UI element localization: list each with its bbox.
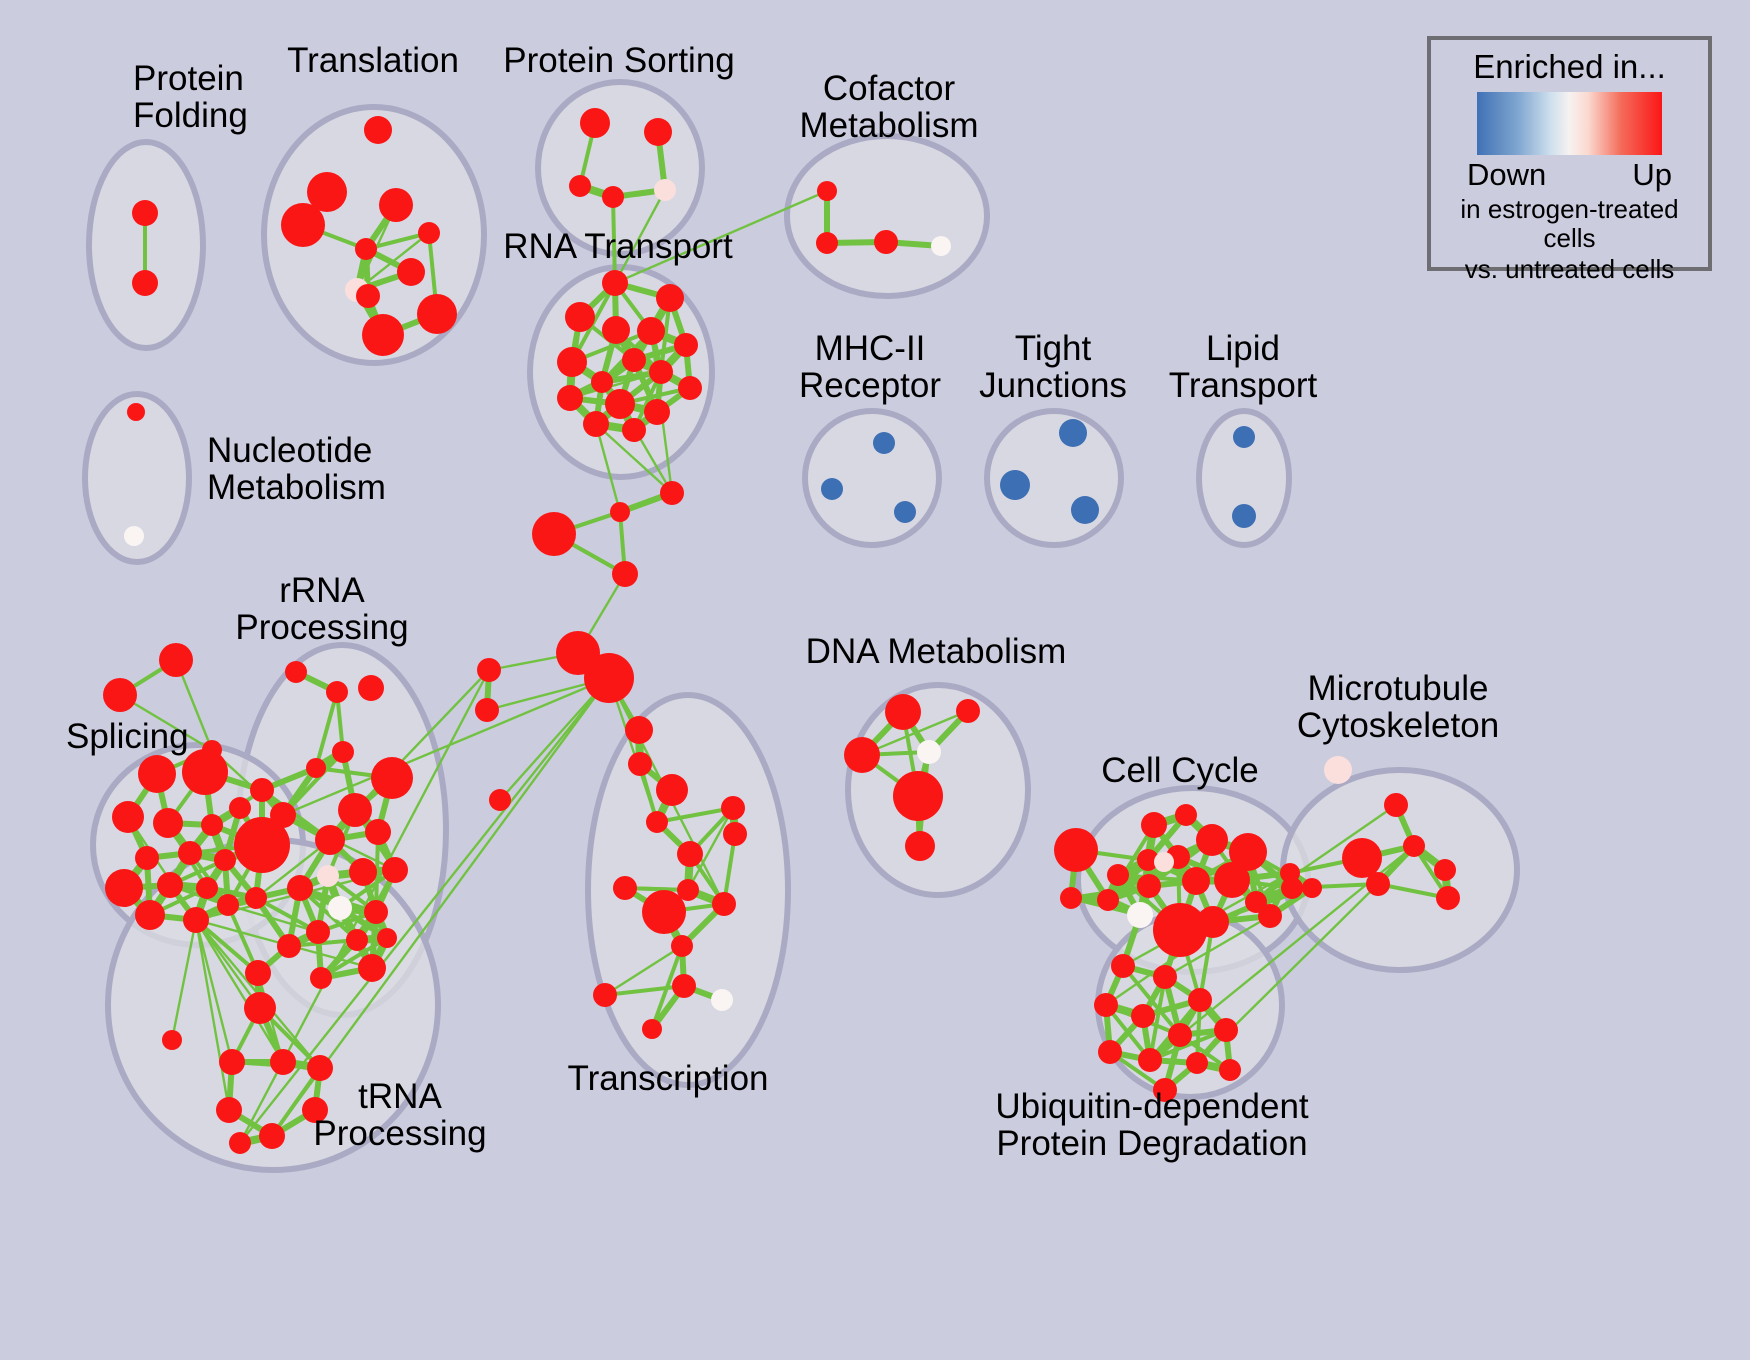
network-node[interactable] [1214, 862, 1250, 898]
network-node[interactable] [557, 385, 583, 411]
cluster-label-translation: Translation [287, 42, 459, 79]
network-node[interactable] [112, 801, 144, 833]
network-node[interactable] [1182, 867, 1210, 895]
network-node[interactable] [287, 875, 313, 901]
network-node[interactable] [328, 896, 352, 920]
network-node[interactable] [622, 348, 646, 372]
network-node[interactable] [132, 200, 158, 226]
network-node[interactable] [216, 1097, 242, 1123]
network-node[interactable] [138, 755, 176, 793]
network-node[interactable] [306, 758, 326, 778]
network-node[interactable] [625, 716, 653, 744]
network-node[interactable] [656, 774, 688, 806]
network-node[interactable] [1403, 835, 1425, 857]
network-node[interactable] [1384, 793, 1408, 817]
network-node[interactable] [602, 186, 624, 208]
network-node[interactable] [1168, 1023, 1192, 1047]
network-node[interactable] [1342, 838, 1382, 878]
network-node[interactable] [346, 929, 368, 951]
network-node[interactable] [671, 935, 693, 957]
network-node[interactable] [1060, 887, 1082, 909]
legend-caption-line1: in estrogen-treated cells [1431, 195, 1708, 253]
network-node[interactable] [306, 920, 330, 944]
network-node[interactable] [365, 819, 391, 845]
network-node[interactable] [364, 900, 388, 924]
network-node[interactable] [1131, 1004, 1155, 1028]
network-node[interactable] [672, 974, 696, 998]
network-node[interactable] [417, 294, 457, 334]
network-node[interactable] [656, 284, 684, 312]
network-node[interactable] [532, 512, 576, 556]
network-node[interactable] [250, 778, 274, 802]
network-node[interactable] [1137, 874, 1161, 898]
network-node[interactable] [610, 502, 630, 522]
network-node[interactable] [159, 643, 193, 677]
network-node[interactable] [355, 238, 377, 260]
network-node[interactable] [245, 960, 271, 986]
network-node[interactable] [135, 846, 159, 870]
network-node[interactable] [201, 814, 223, 836]
network-node[interactable] [1366, 872, 1390, 896]
network-node[interactable] [103, 678, 137, 712]
network-node[interactable] [477, 658, 501, 682]
network-node[interactable] [885, 694, 921, 730]
network-node[interactable] [1153, 965, 1177, 989]
network-node[interactable] [1214, 1018, 1238, 1042]
network-node[interactable] [905, 831, 935, 861]
network-node[interactable] [1154, 852, 1174, 872]
network-node[interactable] [1188, 988, 1212, 1012]
network-node[interactable] [219, 1049, 245, 1075]
cluster-label-protein-folding: Protein Folding [133, 60, 248, 134]
network-node[interactable] [315, 825, 345, 855]
cluster-label-rrna-processing: rRNA Processing [235, 572, 408, 646]
network-node[interactable] [371, 757, 413, 799]
network-node[interactable] [613, 876, 637, 900]
network-node[interactable] [593, 983, 617, 1007]
legend-title: Enriched in... [1431, 48, 1708, 86]
network-node[interactable] [893, 771, 943, 821]
cluster-label-tight-junctions: Tight Junctions [979, 330, 1127, 404]
network-node[interactable] [565, 302, 595, 332]
network-node[interactable] [557, 347, 587, 377]
network-node[interactable] [244, 992, 276, 1024]
network-node[interactable] [317, 865, 339, 887]
network-node[interactable] [1107, 864, 1129, 886]
network-node[interactable] [821, 478, 843, 500]
network-node[interactable] [157, 872, 183, 898]
network-node[interactable] [349, 858, 377, 886]
network-node[interactable] [475, 698, 499, 722]
network-node[interactable] [489, 789, 511, 811]
cluster-label-trna-processing: tRNA Processing [313, 1078, 486, 1152]
network-node[interactable] [711, 989, 733, 1011]
network-node[interactable] [569, 175, 591, 197]
network-node[interactable] [591, 371, 613, 393]
network-node[interactable] [332, 741, 354, 763]
network-node[interactable] [612, 561, 638, 587]
cluster-label-mhc-ii: MHC-II Receptor [799, 330, 941, 404]
network-node[interactable] [721, 796, 745, 820]
network-node[interactable] [217, 894, 239, 916]
network-node[interactable] [644, 118, 672, 146]
network-node[interactable] [649, 360, 673, 384]
cluster-label-microtubule: Microtubule Cytoskeleton [1297, 670, 1499, 744]
cluster-label-cofactor-metab: Cofactor Metabolism [800, 70, 979, 144]
cluster-label-rna-transport: RNA Transport [503, 228, 733, 265]
network-node[interactable] [1233, 426, 1255, 448]
network-node[interactable] [894, 501, 916, 523]
network-node[interactable] [132, 270, 158, 296]
network-node[interactable] [637, 317, 665, 345]
cluster-label-protein-sorting: Protein Sorting [503, 42, 735, 79]
network-node[interactable] [642, 1019, 662, 1039]
network-node[interactable] [358, 675, 384, 701]
network-node[interactable] [377, 928, 397, 948]
network-node[interactable] [397, 258, 425, 286]
cluster-label-lipid-transport: Lipid Transport [1169, 330, 1317, 404]
network-node[interactable] [602, 316, 630, 344]
network-node[interactable] [1153, 903, 1207, 957]
cluster-hull-cofactor-metab [787, 136, 987, 296]
network-node[interactable] [584, 653, 634, 703]
network-node[interactable] [723, 822, 747, 846]
network-node[interactable] [182, 749, 228, 795]
network-node[interactable] [1436, 886, 1460, 910]
cluster-label-nucleotide-metab: Nucleotide Metabolism [207, 432, 386, 506]
network-node[interactable] [418, 222, 440, 244]
network-node[interactable] [285, 661, 307, 683]
network-node[interactable] [1000, 470, 1030, 500]
network-node[interactable] [1281, 877, 1303, 899]
network-node[interactable] [917, 740, 941, 764]
network-node[interactable] [1196, 824, 1228, 856]
network-node[interactable] [602, 270, 628, 296]
network-node[interactable] [214, 849, 236, 871]
network-node[interactable] [712, 892, 736, 916]
network-node[interactable] [127, 403, 145, 421]
network-node[interactable] [338, 793, 372, 827]
network-node[interactable] [605, 389, 635, 419]
network-node[interactable] [1434, 859, 1456, 881]
network-node[interactable] [1094, 993, 1118, 1017]
network-node[interactable] [234, 817, 290, 873]
network-node[interactable] [281, 203, 325, 247]
network-node[interactable] [1097, 889, 1119, 911]
network-node[interactable] [105, 869, 143, 907]
legend-caption-line2: vs. untreated cells [1431, 255, 1708, 284]
network-node[interactable] [356, 284, 380, 308]
network-node[interactable] [844, 737, 880, 773]
network-node[interactable] [677, 841, 703, 867]
network-node[interactable] [362, 314, 404, 356]
network-node[interactable] [873, 432, 895, 454]
network-node[interactable] [229, 797, 251, 819]
cluster-label-transcription: Transcription [568, 1060, 769, 1097]
cluster-label-dna-metabolism: DNA Metabolism [806, 633, 1067, 670]
network-node[interactable] [628, 752, 652, 776]
network-node[interactable] [678, 376, 702, 400]
network-node[interactable] [956, 699, 980, 723]
legend-colorbar [1477, 92, 1662, 155]
network-node[interactable] [1258, 904, 1282, 928]
network-node[interactable] [270, 1049, 296, 1075]
network-node[interactable] [1059, 419, 1087, 447]
network-node[interactable] [817, 181, 837, 201]
network-node[interactable] [178, 841, 202, 865]
network-node[interactable] [1175, 804, 1197, 826]
network-node[interactable] [644, 399, 670, 425]
network-node[interactable] [379, 188, 413, 222]
network-node[interactable] [245, 887, 267, 909]
legend-high-label: Up [1632, 157, 1672, 193]
network-node[interactable] [642, 890, 686, 934]
legend-low-label: Down [1467, 157, 1546, 193]
network-node[interactable] [364, 116, 392, 144]
cluster-hull-mhc-ii [805, 411, 939, 545]
network-node[interactable] [654, 179, 676, 201]
cluster-label-ubiquitin: Ubiquitin-dependent Protein Degradation [995, 1088, 1308, 1162]
network-node[interactable] [135, 900, 165, 930]
network-node[interactable] [259, 1123, 285, 1149]
network-node[interactable] [1302, 878, 1322, 898]
network-node[interactable] [162, 1030, 182, 1050]
network-node[interactable] [183, 907, 209, 933]
network-node[interactable] [277, 934, 301, 958]
network-node[interactable] [1071, 496, 1099, 524]
network-node[interactable] [310, 967, 332, 989]
network-node[interactable] [1186, 1052, 1208, 1074]
network-node[interactable] [1098, 1040, 1122, 1064]
network-node[interactable] [646, 811, 668, 833]
network-node[interactable] [1054, 828, 1098, 872]
network-node[interactable] [1232, 504, 1256, 528]
network-figure: Protein FoldingTranslationProtein Sortin… [0, 0, 1750, 1360]
network-node[interactable] [196, 877, 218, 899]
network-node[interactable] [660, 481, 684, 505]
network-node[interactable] [358, 954, 386, 982]
network-node[interactable] [153, 808, 183, 838]
cluster-label-cell-cycle: Cell Cycle [1101, 752, 1259, 789]
legend-box: Enriched in... Down Up in estrogen-treat… [1427, 36, 1712, 271]
network-node[interactable] [622, 418, 646, 442]
network-node[interactable] [1219, 1059, 1241, 1081]
network-node[interactable] [1141, 812, 1167, 838]
network-node[interactable] [583, 411, 609, 437]
network-node[interactable] [124, 526, 144, 546]
network-node[interactable] [1127, 902, 1153, 928]
network-node[interactable] [326, 681, 348, 703]
network-node[interactable] [1138, 1048, 1162, 1072]
network-node[interactable] [816, 232, 838, 254]
network-node[interactable] [229, 1132, 251, 1154]
network-node[interactable] [1324, 756, 1352, 784]
cluster-label-splicing: Splicing [66, 718, 189, 755]
network-node[interactable] [382, 857, 408, 883]
network-node[interactable] [1111, 954, 1135, 978]
network-node[interactable] [1197, 906, 1229, 938]
network-node[interactable] [674, 333, 698, 357]
network-node[interactable] [874, 230, 898, 254]
network-node[interactable] [580, 108, 610, 138]
network-node[interactable] [931, 236, 951, 256]
